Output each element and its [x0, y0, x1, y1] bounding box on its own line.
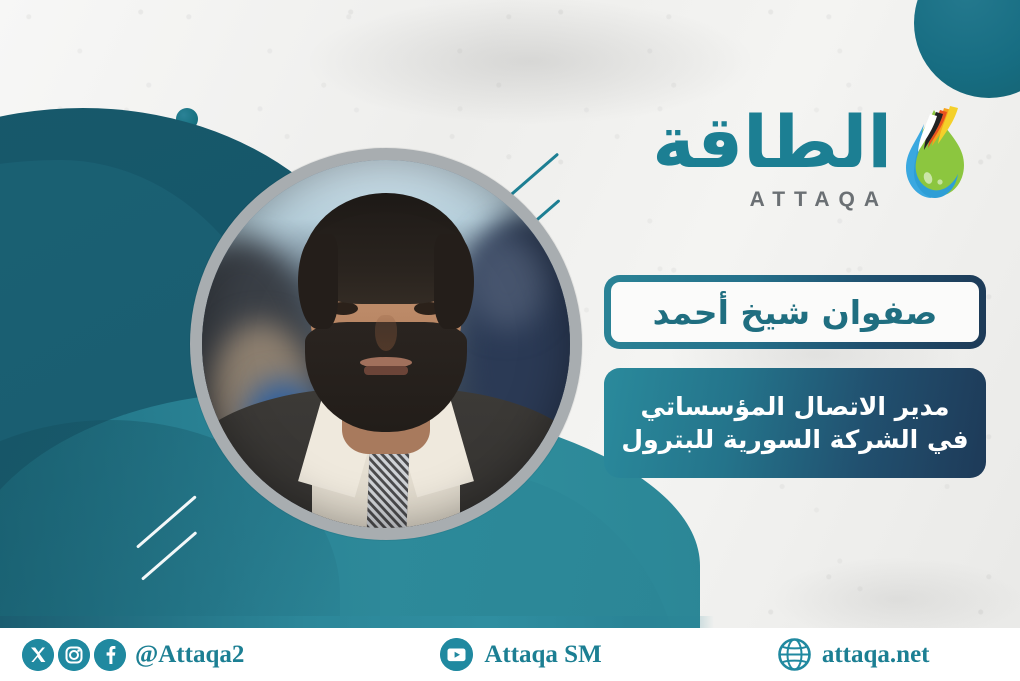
- person-name: صفوان شيخ أحمد: [653, 293, 938, 332]
- youtube-label: Attaqa SM: [484, 641, 601, 669]
- attaqa-logo: الطاقة ATTAQA: [660, 104, 980, 222]
- footer-youtube-group: Attaqa SM: [355, 628, 688, 681]
- person-title-box: مدير الاتصال المؤسساتي في الشركة السورية…: [604, 368, 986, 478]
- globe-icon[interactable]: [778, 638, 811, 671]
- instagram-icon[interactable]: [58, 639, 90, 671]
- logo-latin-wordmark: ATTAQA: [750, 188, 888, 212]
- facebook-icon[interactable]: [94, 639, 126, 671]
- social-handle: @Attaqa2: [135, 641, 244, 669]
- flame-droplet-icon: [894, 106, 972, 210]
- person-name-box: صفوان شيخ أحمد: [604, 275, 986, 349]
- footer-social-group: @Attaqa2: [0, 628, 355, 681]
- footer-website-group: attaqa.net: [687, 628, 1020, 681]
- website-label: attaqa.net: [822, 641, 930, 669]
- person-title: مدير الاتصال المؤسساتي في الشركة السورية…: [618, 390, 972, 456]
- portrait-artwork: [202, 160, 570, 528]
- footer-bar: @Attaqa2 Attaqa SM attaqa.net: [0, 628, 1020, 681]
- logo-arabic-wordmark: الطاقة: [652, 106, 892, 178]
- portrait-photo: [202, 160, 570, 528]
- youtube-icon[interactable]: [440, 638, 473, 671]
- profile-card: الطاقة ATTAQA صفوان شيخ أحمد مدير الاتصا…: [0, 0, 1020, 681]
- x-twitter-icon[interactable]: [22, 639, 54, 671]
- footer-accent-band: [0, 616, 1020, 628]
- portrait-vignette: [202, 160, 570, 528]
